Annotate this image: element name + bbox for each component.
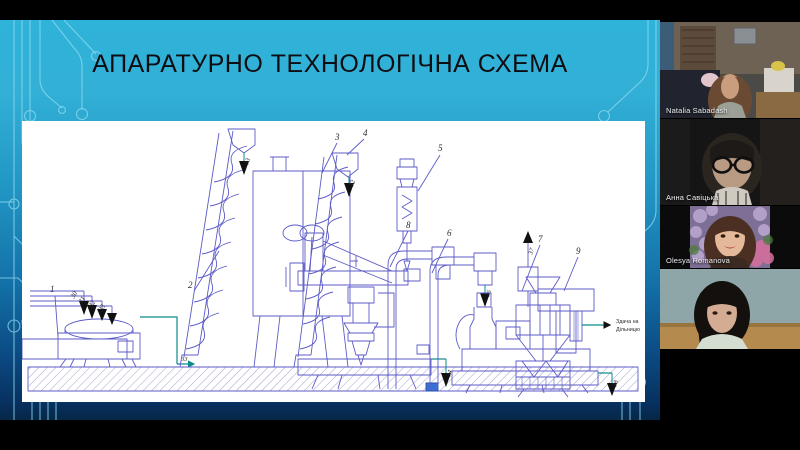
output-label-line1: Здача на (616, 319, 639, 325)
participant-name: Natalia Sabadash (666, 106, 728, 115)
diagram-panel-cyclone: 9 Здача на Дільницю (22, 121, 645, 402)
participant-tile-1[interactable]: Natalia Sabadash (660, 0, 800, 118)
participant-tile-2[interactable]: Анна Савіцька (660, 119, 800, 205)
equipment-9-cyclone (516, 277, 582, 397)
presentation-slide: АПАРАТУРНО ТЕХНОЛОГІЧНА СХЕМА (0, 20, 660, 420)
letterbox-top (0, 0, 660, 20)
participant-tile-3[interactable]: Olesya Romanova (660, 206, 800, 268)
screen-root: АПАРАТУРНО ТЕХНОЛОГІЧНА СХЕМА (0, 0, 800, 450)
avatar (660, 269, 800, 450)
avatar (660, 0, 800, 118)
participant-name: Olesya Romanova (666, 256, 730, 265)
svg-text:9: 9 (576, 246, 581, 256)
participant-sidebar: Natalia Sabadash (660, 0, 800, 450)
slide-title: АПАРАТУРНО ТЕХНОЛОГІЧНА СХЕМА (0, 50, 660, 79)
screenshare-region[interactable]: АПАРАТУРНО ТЕХНОЛОГІЧНА СХЕМА (0, 0, 660, 450)
participant-name: Анна Савіцька (666, 193, 719, 202)
output-label-line2: Дільницю (616, 327, 640, 333)
participant-tile-4[interactable] (660, 269, 800, 450)
letterbox-bottom (0, 420, 660, 450)
